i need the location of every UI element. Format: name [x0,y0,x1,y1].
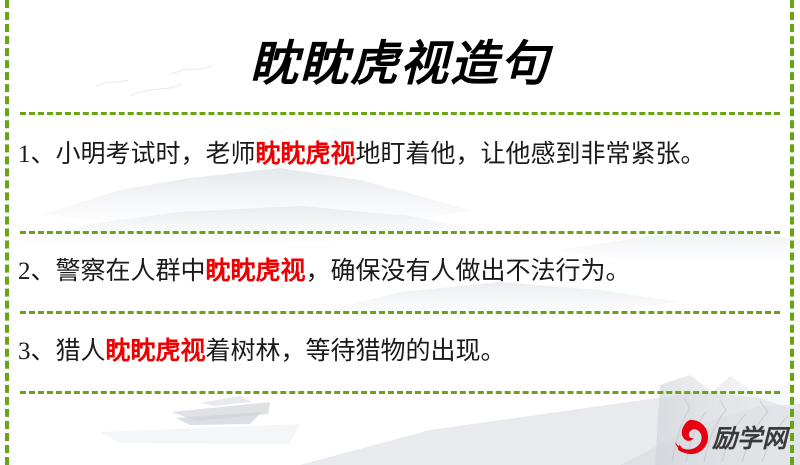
sentence-1-keyword: 眈眈虎视 [256,141,356,168]
page-title: 眈眈虎视造句 [0,24,800,94]
example-sentence-3: 3、猎人眈眈虎视着树林，等待猎物的出现。 [18,332,768,372]
sentence-2-keyword: 眈眈虎视 [206,258,306,285]
divider-top [20,112,780,115]
example-sentence-2: 2、警察在人群中眈眈虎视，确保没有人做出不法行为。 [18,252,768,292]
sentence-2-before: 警察在人群中 [56,258,206,285]
example-sentence-1: 1、小明考试时，老师眈眈虎视地盯着他，让他感到非常紧张。 [18,135,768,175]
sentence-3-index: 3、 [18,338,56,365]
sentence-1-index: 1、 [18,141,56,168]
logo-text: 励学网 [712,419,787,455]
watermark-logo: 励学网 [672,414,792,460]
sentence-1-after: 地盯着他，让他感到非常紧张。 [356,141,706,168]
divider-3 [20,391,780,394]
sentence-3-keyword: 眈眈虎视 [106,338,206,365]
sentence-1-before: 小明考试时，老师 [56,141,256,168]
divider-1 [20,231,780,234]
sentence-3-before: 猎人 [56,338,106,365]
red-swirl-logo-icon [672,418,710,456]
sentence-2-index: 2、 [18,258,56,285]
sentence-3-after: 着树林，等待猎物的出现。 [206,338,506,365]
sentence-2-after: ，确保没有人做出不法行为。 [306,258,631,285]
divider-2 [20,311,780,314]
page-root: 眈眈虎视造句 1、小明考试时，老师眈眈虎视地盯着他，让他感到非常紧张。 2、警察… [0,0,800,465]
